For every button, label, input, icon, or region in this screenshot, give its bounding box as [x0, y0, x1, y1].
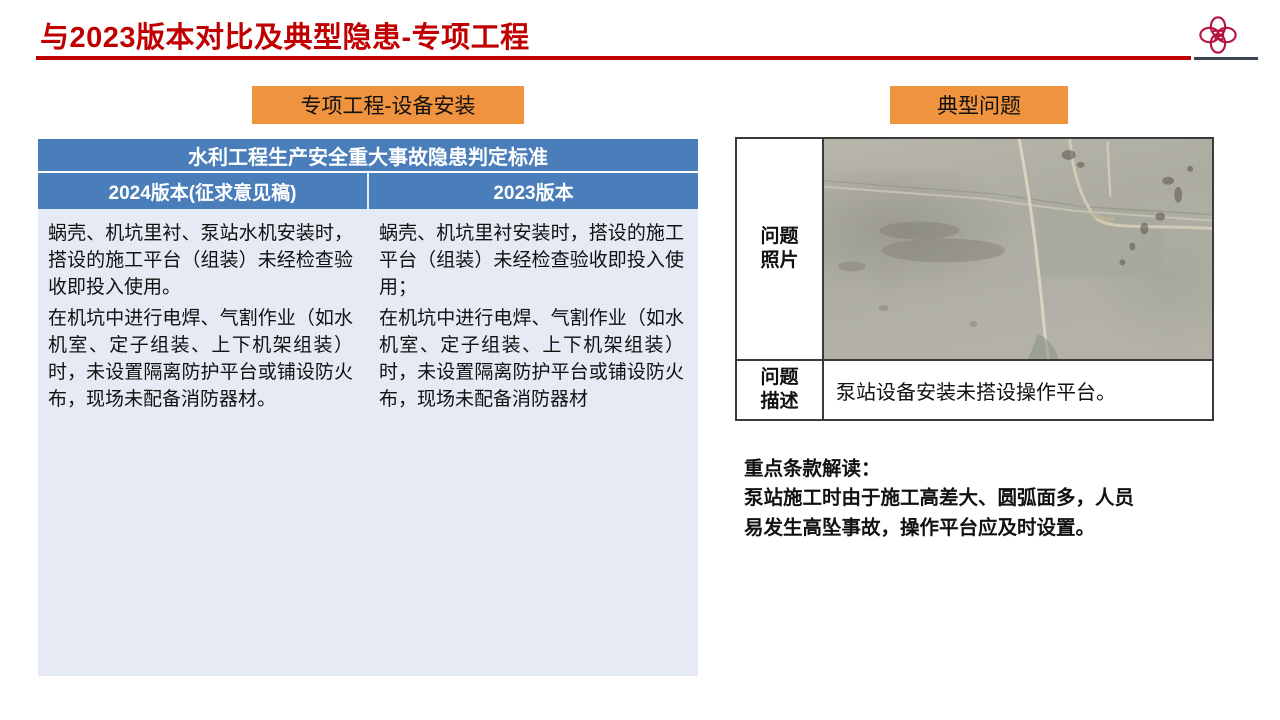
column-body-2024: 蜗壳、机坑里衬、泵站水机安装时，搭设的施工平台（组装）未经检查验收即投入使用。 … — [38, 209, 367, 674]
note-line-3: 易发生高坠事故，操作平台应及时设置。 — [744, 514, 1214, 543]
slide-root: 与2023版本对比及典型隐患-专项工程 专项工程-设备安装 典型问题 水利工程生… — [0, 0, 1280, 720]
column-header-2023: 2023版本 — [369, 173, 698, 209]
clause-2024-1: 蜗壳、机坑里衬、泵站水机安装时，搭设的施工平台（组装）未经检查验收即投入使用。 — [48, 221, 353, 302]
clause-2024-2: 在机坑中进行电焊、气割作业（如水机室、定子组装、上下机架组装）时，未设置隔离防护… — [48, 306, 353, 414]
comparison-table-title: 水利工程生产安全重大事故隐患判定标准 — [38, 139, 698, 173]
key-clause-note: 重点条款解读： 泵站施工时由于施工高差大、圆弧面多，人员 易发生高坠事故，操作平… — [744, 455, 1214, 543]
problem-photo-label-line1: 问题 — [760, 225, 798, 249]
badge-special-works: 专项工程-设备安装 — [252, 86, 524, 124]
problem-photo-label-line2: 照片 — [760, 249, 798, 273]
company-logo-icon — [1197, 14, 1239, 56]
problem-table: 问题 照片 — [735, 137, 1214, 421]
comparison-table-body: 蜗壳、机坑里衬、泵站水机安装时，搭设的施工平台（组装）未经检查验收即投入使用。 … — [38, 209, 698, 674]
page-title: 与2023版本对比及典型隐患-专项工程 — [40, 14, 530, 56]
column-body-2023: 蜗壳、机坑里衬安装时，搭设的施工平台（组装）未经检查验收即投入使用； 在机坑中进… — [369, 209, 698, 674]
problem-photo-label: 问题 照片 — [737, 139, 824, 359]
clause-2023-1: 蜗壳、机坑里衬安装时，搭设的施工平台（组装）未经检查验收即投入使用； — [379, 221, 684, 302]
note-line-1: 重点条款解读： — [744, 455, 1214, 484]
title-underline-accent — [1194, 57, 1258, 60]
column-header-2024: 2024版本(征求意见稿) — [38, 173, 367, 209]
comparison-table: 水利工程生产安全重大事故隐患判定标准 2024版本(征求意见稿) 2023版本 … — [38, 139, 698, 676]
problem-desc-row: 问题 描述 泵站设备安装未搭设操作平台。 — [737, 361, 1212, 419]
title-underline — [36, 56, 1191, 60]
note-line-2: 泵站施工时由于施工高差大、圆弧面多，人员 — [744, 484, 1214, 513]
problem-description-text: 泵站设备安装未搭设操作平台。 — [824, 361, 1212, 419]
problem-desc-label-line2: 描述 — [760, 390, 798, 414]
problem-desc-label-line1: 问题 — [760, 366, 798, 390]
problem-desc-label: 问题 描述 — [737, 361, 824, 419]
clause-2023-2: 在机坑中进行电焊、气割作业（如水机室、定子组装、上下机架组装）时，未设置隔离防护… — [379, 306, 684, 414]
problem-photo-row: 问题 照片 — [737, 139, 1212, 361]
comparison-table-column-headers: 2024版本(征求意见稿) 2023版本 — [38, 173, 698, 209]
problem-photo — [824, 139, 1212, 359]
badge-typical-problem: 典型问题 — [890, 86, 1068, 124]
